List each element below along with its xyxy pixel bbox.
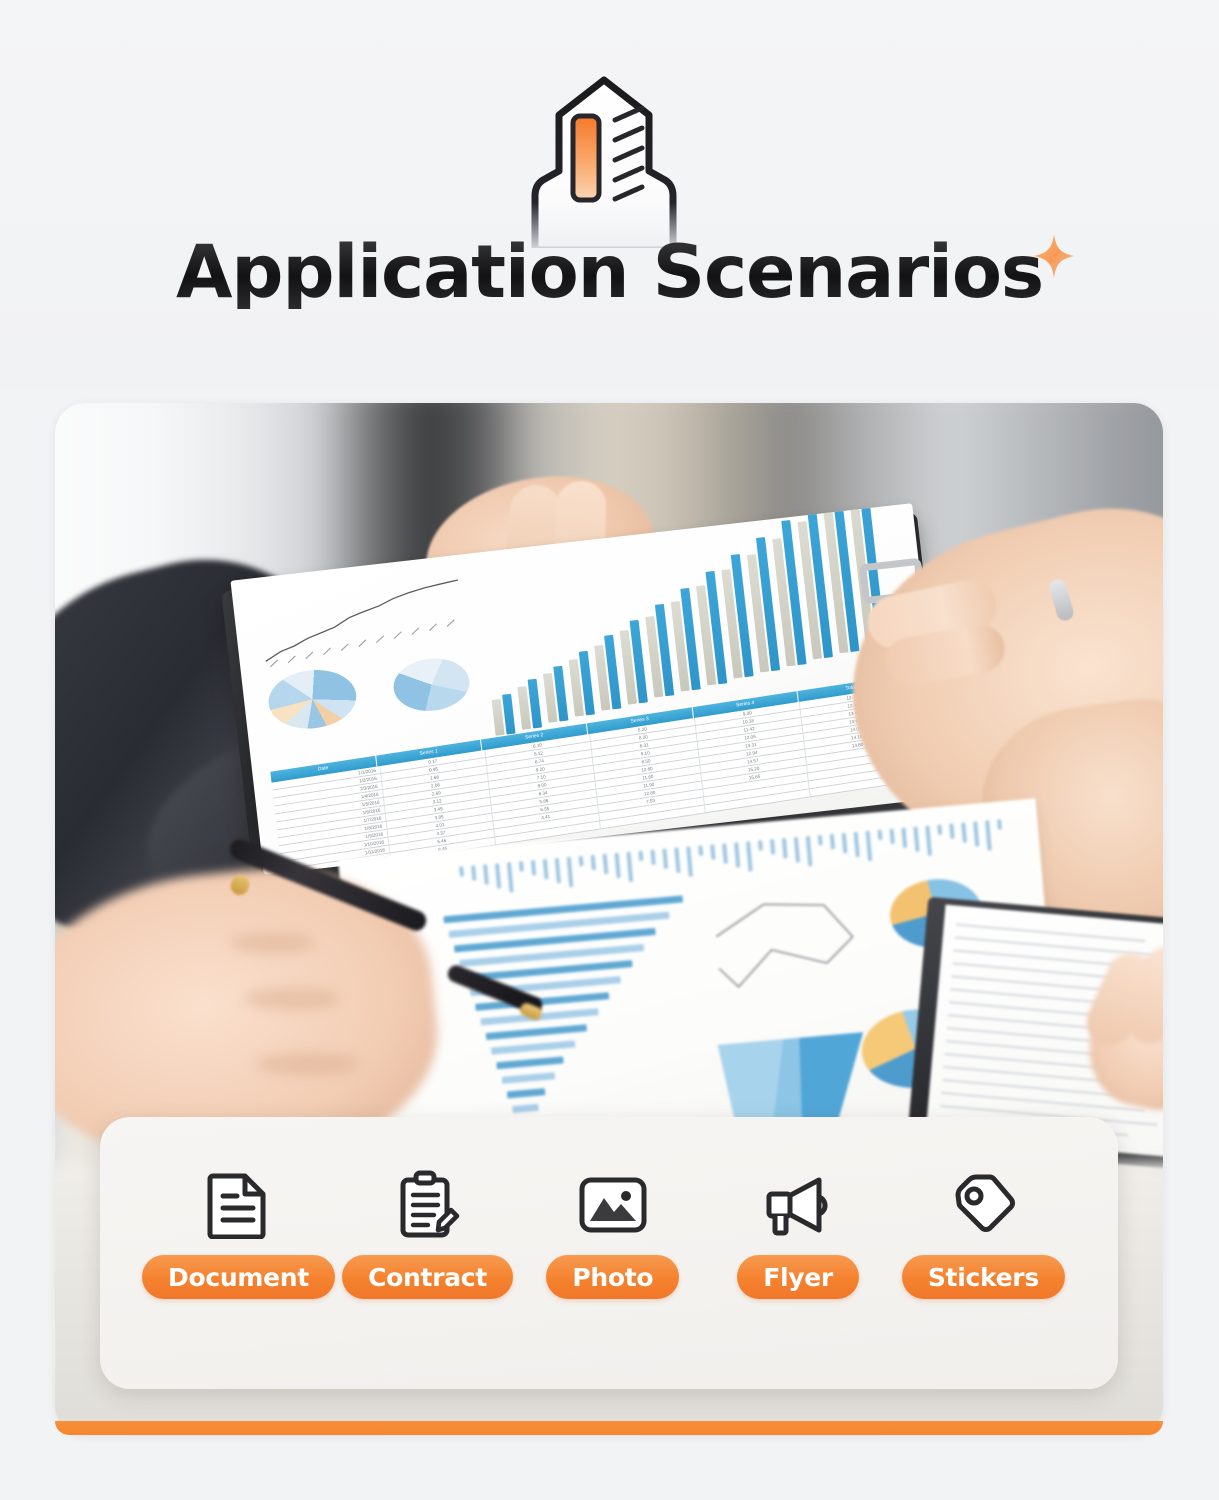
page-title: Application Scenarios — [176, 236, 1043, 309]
pie-chart-1 — [265, 665, 359, 733]
trend-line-chart — [255, 576, 472, 669]
knuckle — [255, 1053, 360, 1075]
scenario-label-document[interactable]: Document — [142, 1255, 335, 1299]
contract-icon — [392, 1169, 464, 1241]
scenario-label-flyer[interactable]: Flyer — [737, 1255, 859, 1299]
document-icon — [202, 1169, 274, 1241]
sparkle-icon — [1032, 232, 1076, 280]
scenario-item-document[interactable]: Document — [142, 1169, 335, 1299]
knuckle — [245, 988, 340, 1010]
knuckle — [230, 933, 315, 953]
pie-chart-2 — [391, 655, 472, 715]
tag-icon — [947, 1169, 1019, 1241]
photo-icon — [577, 1169, 649, 1241]
scenario-item-photo[interactable]: Photo — [520, 1169, 705, 1299]
building-document-icon — [497, 68, 712, 248]
megaphone-icon — [762, 1169, 834, 1241]
scenario-card: Document Contract — [100, 1117, 1118, 1389]
scenario-label-photo[interactable]: Photo — [546, 1255, 679, 1299]
scenario-item-flyer[interactable]: Flyer — [705, 1169, 890, 1299]
scatter-chart — [703, 883, 882, 1007]
scenario-label-stickers[interactable]: Stickers — [902, 1255, 1065, 1299]
photo-accent-bar — [55, 1421, 1163, 1435]
scenario-item-contract[interactable]: Contract — [335, 1169, 520, 1299]
horizontal-bar-chart — [443, 895, 712, 1146]
scenario-item-stickers[interactable]: Stickers — [891, 1169, 1076, 1299]
scenario-label-contract[interactable]: Contract — [342, 1255, 513, 1299]
scenario-list: Document Contract — [100, 1117, 1118, 1389]
header: Application Scenarios — [0, 0, 1219, 390]
